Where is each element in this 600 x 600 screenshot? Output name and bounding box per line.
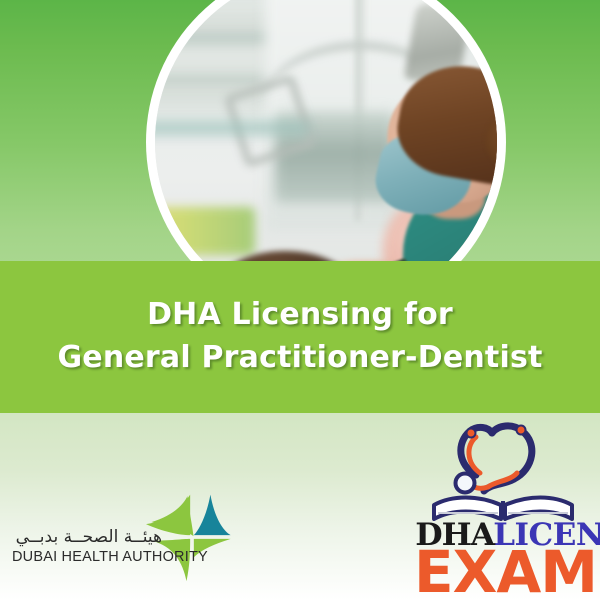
photo-instrument-tray: [155, 207, 255, 255]
photo-glass-shelf: [155, 121, 310, 135]
poster-canvas: DHA Licensing for General Practitioner-D…: [0, 0, 600, 600]
page-title-line-1: DHA Licensing for: [147, 294, 453, 337]
page-title-line-2: General Practitioner-Dentist: [57, 337, 542, 380]
dha-logo-text: هيئــة الصحــة بدبــي DUBAI HEALTH AUTHO…: [12, 527, 162, 565]
title-band: DHA Licensing for General Practitioner-D…: [0, 261, 600, 413]
hero-section: [0, 0, 600, 262]
exam-logo-word-exam: EXAM: [414, 545, 597, 600]
logo-band: هيئــة الصحــة بدبــي DUBAI HEALTH AUTHO…: [0, 413, 600, 600]
dha-license-exam-logo: DHA LICENSE EXAM: [408, 421, 600, 600]
stethoscope-book-icon: [418, 421, 588, 521]
dentist-clinic-photo: [155, 0, 497, 262]
dubai-health-authority-logo: هيئــة الصحــة بدبــي DUBAI HEALTH AUTHO…: [8, 495, 238, 585]
dha-arabic-name: هيئــة الصحــة بدبــي: [12, 527, 162, 548]
dha-english-name: DUBAI HEALTH AUTHORITY: [12, 549, 162, 565]
